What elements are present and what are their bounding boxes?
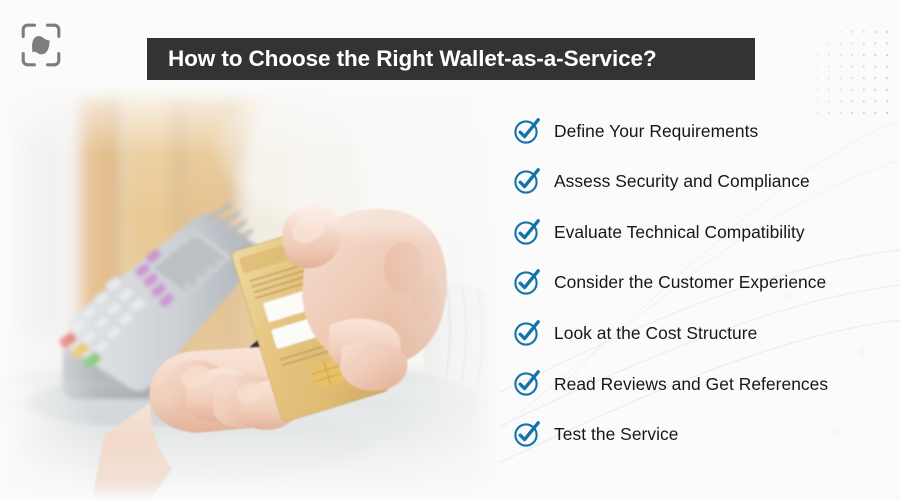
list-item-label: Consider the Customer Experience xyxy=(554,272,826,293)
page-title: How to Choose the Right Wallet-as-a-Serv… xyxy=(147,48,657,71)
pos-terminal-card-payment-illustration xyxy=(0,85,500,500)
wallet-bracket-logo-icon xyxy=(20,22,62,68)
check-circle-icon xyxy=(513,320,540,347)
hero-photo xyxy=(0,85,500,500)
list-item-label: Read Reviews and Get References xyxy=(554,374,828,395)
list-item[interactable]: Consider the Customer Experience xyxy=(513,264,888,302)
dot-grid-topright-icon xyxy=(798,24,894,116)
list-item[interactable]: Test the Service xyxy=(513,416,888,454)
check-circle-icon xyxy=(513,118,540,145)
check-circle-icon xyxy=(513,168,540,195)
list-item-label: Look at the Cost Structure xyxy=(554,323,757,344)
list-item-label: Assess Security and Compliance xyxy=(554,171,810,192)
list-item[interactable]: Assess Security and Compliance xyxy=(513,163,888,201)
list-item-label: Define Your Requirements xyxy=(554,121,758,142)
checklist: Define Your Requirements Assess Security… xyxy=(513,112,888,454)
check-circle-icon xyxy=(513,370,540,397)
list-item[interactable]: Define Your Requirements xyxy=(513,112,888,150)
list-item[interactable]: Read Reviews and Get References xyxy=(513,365,888,403)
check-circle-icon xyxy=(513,219,540,246)
list-item-label: Test the Service xyxy=(554,424,679,445)
list-item-label: Evaluate Technical Compatibility xyxy=(554,222,805,243)
list-item[interactable]: Evaluate Technical Compatibility xyxy=(513,213,888,251)
infographic-canvas: How to Choose the Right Wallet-as-a-Serv… xyxy=(0,0,900,500)
title-banner: How to Choose the Right Wallet-as-a-Serv… xyxy=(147,38,755,80)
check-circle-icon xyxy=(513,269,540,296)
check-circle-icon xyxy=(513,421,540,448)
list-item[interactable]: Look at the Cost Structure xyxy=(513,314,888,352)
